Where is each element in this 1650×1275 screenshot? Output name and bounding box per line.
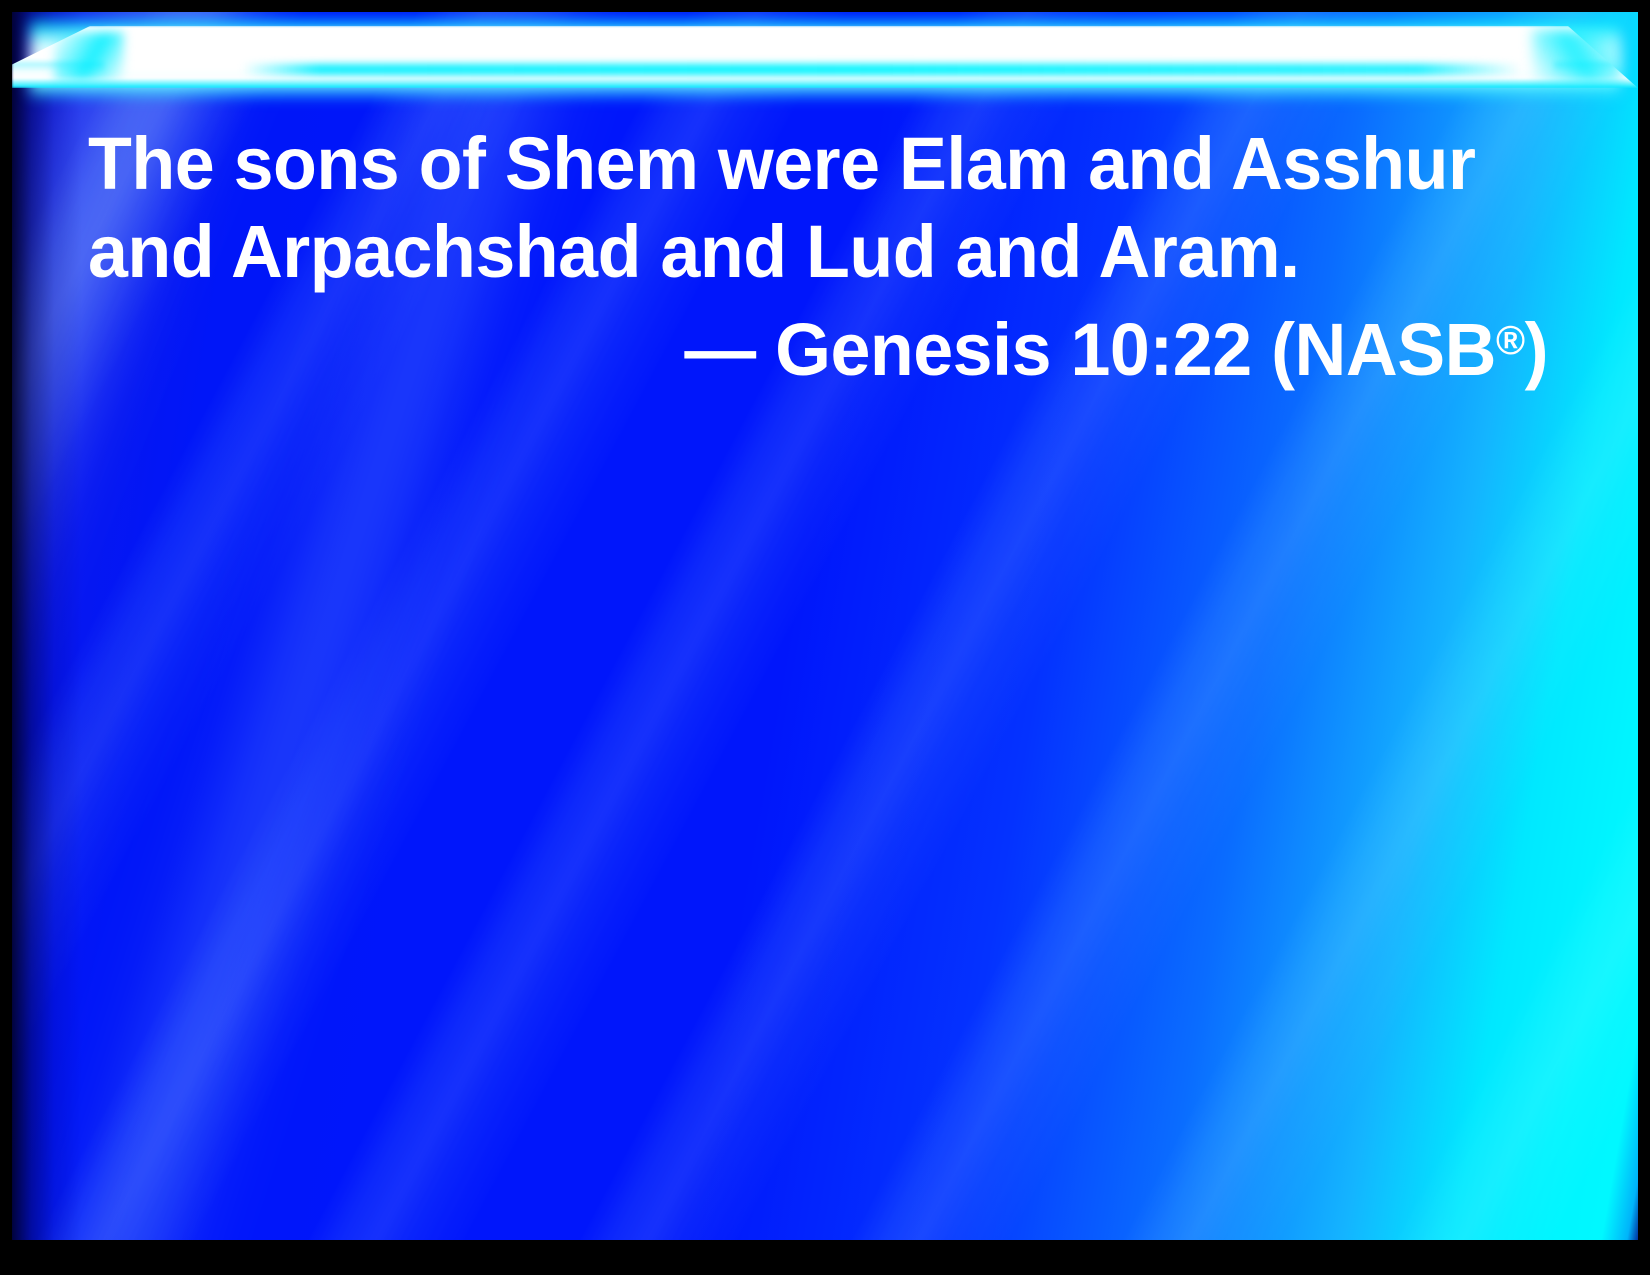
attribution-closing-paren: )	[1525, 308, 1548, 391]
slide-frame: The sons of Shem were Elam and Asshur an…	[0, 0, 1650, 1275]
verse-line-1: The sons of Shem were Elam and Asshur	[88, 120, 1504, 208]
verse-text-block: The sons of Shem were Elam and Asshur an…	[88, 120, 1548, 394]
slide-canvas: The sons of Shem were Elam and Asshur an…	[12, 12, 1638, 1240]
verse-attribution: — Genesis 10:22 (NASB®)	[132, 296, 1548, 394]
registered-trademark-icon: ®	[1496, 317, 1525, 363]
verse-line-2: and Arpachshad and Lud and Aram.	[88, 208, 1504, 296]
attribution-em-dash: —	[684, 308, 775, 391]
attribution-reference: Genesis 10:22 (NASB	[775, 308, 1496, 391]
